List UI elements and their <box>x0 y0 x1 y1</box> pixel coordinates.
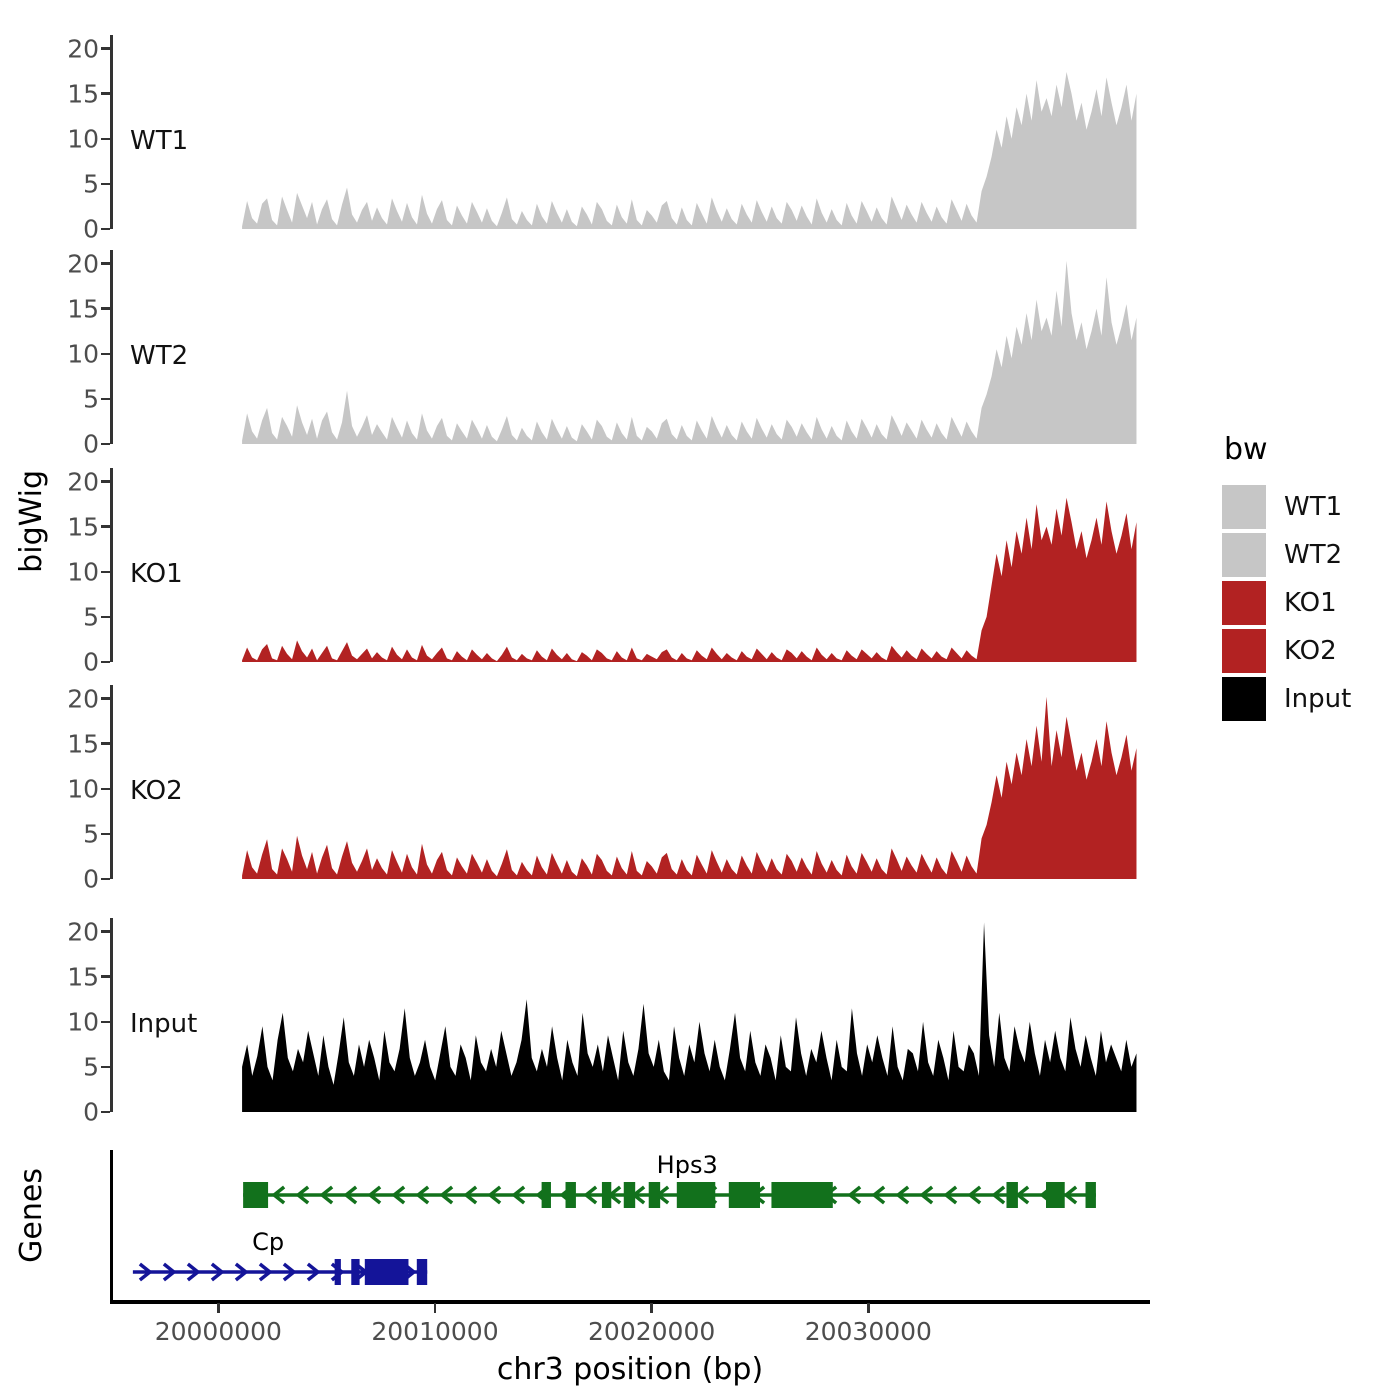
y-tick-mark <box>101 183 110 185</box>
y-axis-title-bigwig: bigWig <box>14 470 49 573</box>
y-tick-mark <box>101 616 110 618</box>
y-tick-label: 5 <box>83 819 99 848</box>
y-tick-mark <box>101 571 110 573</box>
legend-item-label: KO1 <box>1284 588 1337 618</box>
gene-exon-block <box>649 1182 660 1208</box>
y-tick-label: 20 <box>67 917 99 946</box>
legend-item-wt2[interactable]: WT2 <box>1222 531 1351 579</box>
x-tick-label: 20010000 <box>371 1317 498 1346</box>
bigwig-panel-input: 05101520Input <box>110 918 1150 1112</box>
legend-swatch-icon <box>1222 581 1266 625</box>
y-tick-mark <box>101 398 110 400</box>
wig-area-input <box>110 918 1150 1112</box>
y-tick-mark <box>101 833 110 835</box>
y-tick-label: 15 <box>67 79 99 108</box>
wig-area-ko2 <box>110 685 1150 879</box>
y-tick-label: 5 <box>83 602 99 631</box>
gene-exon-block <box>624 1182 635 1208</box>
y-tick-label: 5 <box>83 384 99 413</box>
y-tick-mark <box>101 1111 110 1113</box>
y-tick-mark <box>101 975 110 977</box>
legend-item-label: KO2 <box>1284 636 1337 666</box>
legend-swatch-icon <box>1222 677 1266 721</box>
gene-exon-block <box>365 1259 409 1285</box>
y-tick-mark <box>101 742 110 744</box>
bigwig-panel-wt1: 05101520WT1 <box>110 35 1150 229</box>
y-tick-label: 15 <box>67 729 99 758</box>
y-tick-label: 0 <box>83 215 99 244</box>
legend-item-ko1[interactable]: KO1 <box>1222 579 1351 627</box>
legend-item-ko2[interactable]: KO2 <box>1222 627 1351 675</box>
x-tick-label: 20020000 <box>588 1317 715 1346</box>
legend-items: WT1WT2KO1KO2Input <box>1222 483 1351 723</box>
bigwig-panel-ko2: 05101520KO2 <box>110 685 1150 879</box>
y-tick-mark <box>101 443 110 445</box>
gene-exon-block <box>1046 1182 1065 1208</box>
y-tick-label: 5 <box>83 169 99 198</box>
legend-item-wt1[interactable]: WT1 <box>1222 483 1351 531</box>
y-tick-label: 15 <box>67 962 99 991</box>
y-tick-label: 0 <box>83 430 99 459</box>
y-tick-label: 0 <box>83 865 99 894</box>
x-tick-mark <box>434 1303 436 1313</box>
gene-exon-block <box>1006 1182 1017 1208</box>
y-tick-mark <box>101 1021 110 1023</box>
y-tick-mark <box>101 788 110 790</box>
wig-area-wt1 <box>110 35 1150 229</box>
gene-exon-block <box>729 1182 760 1208</box>
y-tick-mark <box>101 697 110 699</box>
gene-exon-block <box>677 1182 715 1208</box>
gene-track-svg <box>110 1150 1150 1300</box>
y-tick-mark <box>101 878 110 880</box>
y-tick-label: 5 <box>83 1052 99 1081</box>
y-tick-mark <box>101 262 110 264</box>
gene-label-cp: Cp <box>252 1228 284 1256</box>
y-tick-label: 10 <box>67 339 99 368</box>
wig-area-wt2 <box>110 250 1150 444</box>
gene-exon-block <box>1086 1182 1096 1208</box>
legend-item-label: WT1 <box>1284 492 1342 522</box>
y-tick-mark <box>101 661 110 663</box>
gene-exon-block <box>602 1182 611 1208</box>
y-tick-mark <box>101 480 110 482</box>
gene-exon-block <box>542 1182 551 1208</box>
y-tick-label: 0 <box>83 1098 99 1127</box>
y-tick-mark <box>101 525 110 527</box>
y-tick-label: 20 <box>67 249 99 278</box>
x-axis-line <box>110 1300 1150 1304</box>
y-tick-label: 10 <box>67 557 99 586</box>
y-tick-mark <box>101 92 110 94</box>
x-tick-label: 20000000 <box>155 1317 282 1346</box>
y-tick-mark <box>101 138 110 140</box>
gene-exon-block <box>351 1259 359 1285</box>
gene-exon-block <box>771 1182 832 1208</box>
y-tick-label: 15 <box>67 294 99 323</box>
wig-area-ko1 <box>110 468 1150 662</box>
legend: bw WT1WT2KO1KO2Input <box>1222 432 1351 723</box>
legend-swatch-icon <box>1222 485 1266 529</box>
y-tick-label: 10 <box>67 124 99 153</box>
y-tick-label: 20 <box>67 34 99 63</box>
plot-root: bigWig Genes 05101520WT105101520WT205101… <box>0 0 1400 1400</box>
y-tick-label: 10 <box>67 1007 99 1036</box>
legend-swatch-icon <box>1222 629 1266 673</box>
x-tick-mark <box>217 1303 219 1313</box>
gene-label-hps3: Hps3 <box>657 1151 718 1179</box>
y-tick-mark <box>101 1066 110 1068</box>
bigwig-panel-wt2: 05101520WT2 <box>110 250 1150 444</box>
x-tick-mark <box>867 1303 869 1313</box>
y-tick-mark <box>101 307 110 309</box>
y-tick-label: 20 <box>67 684 99 713</box>
y-tick-label: 0 <box>83 648 99 677</box>
legend-item-label: Input <box>1284 684 1351 714</box>
legend-item-input[interactable]: Input <box>1222 675 1351 723</box>
y-tick-label: 15 <box>67 512 99 541</box>
x-axis-title: chr3 position (bp) <box>110 1352 1150 1387</box>
legend-title: bw <box>1224 432 1351 467</box>
x-tick-label: 20030000 <box>805 1317 932 1346</box>
gene-exon-block <box>243 1182 268 1208</box>
y-tick-label: 10 <box>67 774 99 803</box>
y-tick-label: 20 <box>67 467 99 496</box>
x-tick-mark <box>650 1303 652 1313</box>
bigwig-panel-ko1: 05101520KO1 <box>110 468 1150 662</box>
y-tick-mark <box>101 930 110 932</box>
legend-item-label: WT2 <box>1284 540 1342 570</box>
gene-exon-block <box>335 1259 341 1285</box>
y-axis-title-genes: Genes <box>14 1168 49 1263</box>
gene-exon-block <box>566 1182 576 1208</box>
y-tick-mark <box>101 228 110 230</box>
legend-swatch-icon <box>1222 533 1266 577</box>
gene-exon-block <box>417 1259 427 1285</box>
y-tick-mark <box>101 353 110 355</box>
y-tick-mark <box>101 47 110 49</box>
gene-track-panel: Hps3Cp <box>110 1150 1150 1300</box>
